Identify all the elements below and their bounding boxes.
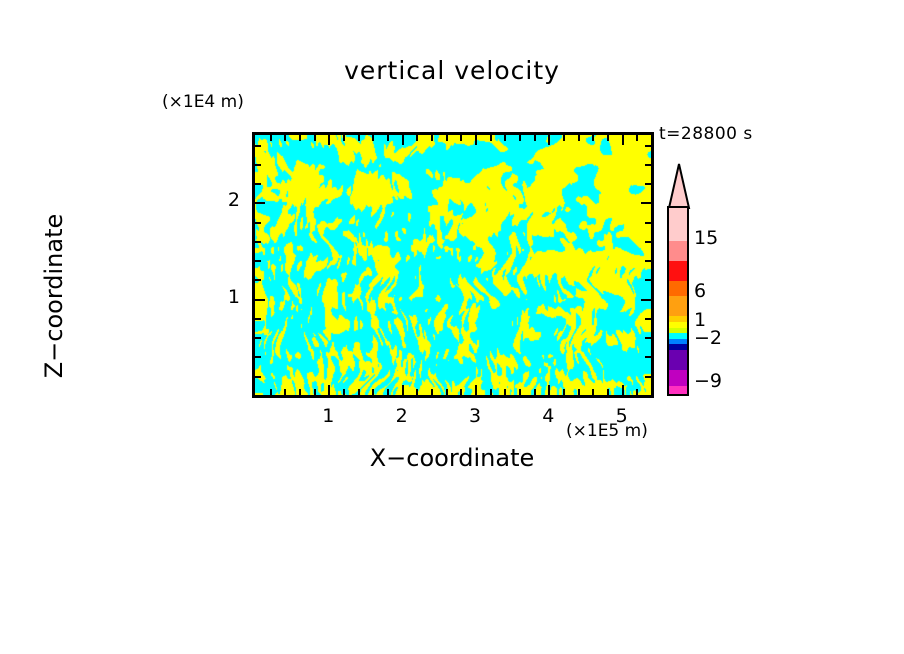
y-tick-minor bbox=[255, 318, 261, 320]
x-tick-minor-top bbox=[592, 135, 594, 141]
x-tick-minor-top bbox=[270, 135, 272, 141]
y-axis-title: Z−coordinate bbox=[40, 146, 68, 446]
x-tick-minor-top bbox=[328, 135, 330, 145]
x-tick-label: 3 bbox=[455, 405, 495, 427]
y-tick-minor bbox=[255, 376, 261, 378]
y-tick-minor-right bbox=[645, 279, 651, 281]
x-tick-minor bbox=[490, 389, 492, 395]
y-tick-minor bbox=[255, 279, 261, 281]
colorbar-tick-label: 6 bbox=[694, 280, 706, 302]
x-tick-minor bbox=[284, 389, 286, 395]
x-tick-minor-top bbox=[446, 135, 448, 141]
x-tick-minor-top bbox=[636, 135, 638, 141]
colorbar-band-pale-pink bbox=[669, 208, 687, 241]
vertical-velocity-field bbox=[255, 135, 651, 395]
x-tick-minor bbox=[636, 389, 638, 395]
y-tick-minor-right bbox=[645, 337, 651, 339]
y-tick-minor bbox=[255, 356, 261, 358]
x-tick-minor-top bbox=[299, 135, 301, 141]
colorbar-tick-label: −2 bbox=[694, 327, 722, 349]
x-tick-minor bbox=[578, 389, 580, 395]
y-tick-minor bbox=[255, 337, 261, 339]
y-tick-minor bbox=[255, 222, 261, 224]
x-tick-minor bbox=[343, 389, 345, 395]
y-tick-label: 2 bbox=[200, 189, 240, 211]
y-tick-minor bbox=[255, 183, 261, 185]
colorbar-tick-label: 15 bbox=[694, 227, 718, 249]
x-tick-minor-top bbox=[314, 135, 316, 141]
y-tick-minor-right bbox=[645, 183, 651, 185]
y-tick-minor-right bbox=[645, 376, 651, 378]
x-tick-minor-top bbox=[490, 135, 492, 141]
x-axis-title: X−coordinate bbox=[0, 444, 904, 472]
colorbar-band-orange bbox=[669, 296, 687, 316]
x-tick-minor-top bbox=[607, 135, 609, 141]
x-tick-minor bbox=[446, 389, 448, 395]
y-tick-minor bbox=[255, 299, 265, 301]
colorbar-band-red bbox=[669, 261, 687, 281]
x-tick-minor-top bbox=[519, 135, 521, 141]
x-tick-minor bbox=[607, 389, 609, 395]
colorbar-arrow-icon bbox=[664, 163, 694, 209]
y-tick-minor bbox=[255, 202, 265, 204]
x-tick-minor bbox=[534, 389, 536, 395]
colorbar-tick-label: −9 bbox=[694, 370, 722, 392]
colorbar-bands bbox=[667, 206, 689, 396]
x-tick-minor bbox=[328, 385, 330, 395]
x-tick-minor bbox=[563, 389, 565, 395]
y-tick-minor bbox=[255, 241, 261, 243]
colorbar bbox=[664, 163, 694, 395]
x-tick-minor-top bbox=[504, 135, 506, 141]
y-axis-units-label: (×1E4 m) bbox=[162, 92, 244, 112]
x-tick-minor-top bbox=[402, 135, 404, 145]
plot-title-text: vertical velocity bbox=[344, 56, 560, 85]
y-tick-minor bbox=[255, 260, 261, 262]
x-tick-minor-top bbox=[343, 135, 345, 141]
x-tick-minor bbox=[622, 385, 624, 395]
x-tick-minor bbox=[592, 389, 594, 395]
x-tick-minor-top bbox=[563, 135, 565, 141]
x-tick-minor bbox=[270, 389, 272, 395]
y-tick-minor-right bbox=[645, 356, 651, 358]
colorbar-band-purple bbox=[669, 350, 687, 370]
x-tick-minor bbox=[372, 389, 374, 395]
x-tick-minor bbox=[475, 385, 477, 395]
x-tick-minor bbox=[504, 389, 506, 395]
x-tick-minor bbox=[416, 389, 418, 395]
y-tick-minor bbox=[255, 164, 261, 166]
x-tick-minor-top bbox=[475, 135, 477, 145]
x-tick-minor bbox=[402, 385, 404, 395]
x-tick-minor bbox=[460, 389, 462, 395]
x-tick-minor-top bbox=[622, 135, 624, 145]
y-tick-minor-right bbox=[641, 299, 651, 301]
x-tick-label: 4 bbox=[528, 405, 568, 427]
colorbar-band-magenta bbox=[669, 370, 687, 386]
time-annotation: t=28800 s bbox=[659, 124, 753, 144]
x-tick-minor bbox=[548, 385, 550, 395]
x-tick-minor-top bbox=[460, 135, 462, 141]
x-tick-minor bbox=[314, 389, 316, 395]
x-tick-minor-top bbox=[548, 135, 550, 145]
y-tick-minor-right bbox=[645, 241, 651, 243]
plot-area bbox=[252, 132, 654, 398]
y-tick-minor bbox=[255, 145, 261, 147]
x-tick-label: 1 bbox=[308, 405, 348, 427]
x-tick-minor-top bbox=[431, 135, 433, 141]
y-tick-minor-right bbox=[645, 222, 651, 224]
x-tick-minor bbox=[387, 389, 389, 395]
y-tick-minor-right bbox=[645, 145, 651, 147]
x-tick-minor-top bbox=[534, 135, 536, 141]
colorbar-band-dark-orange bbox=[669, 281, 687, 296]
y-tick-minor-right bbox=[645, 164, 651, 166]
x-tick-minor bbox=[519, 389, 521, 395]
colorbar-band-salmon bbox=[669, 241, 687, 261]
x-tick-minor bbox=[431, 389, 433, 395]
x-tick-label: 2 bbox=[382, 405, 422, 427]
colorbar-band-pink-magenta bbox=[669, 386, 687, 394]
x-tick-minor-top bbox=[416, 135, 418, 141]
x-tick-minor bbox=[358, 389, 360, 395]
x-tick-label: 5 bbox=[602, 405, 642, 427]
x-tick-minor-top bbox=[358, 135, 360, 141]
x-tick-minor-top bbox=[387, 135, 389, 141]
x-tick-minor bbox=[299, 389, 301, 395]
x-tick-minor-top bbox=[578, 135, 580, 141]
y-tick-minor-right bbox=[645, 318, 651, 320]
y-tick-minor-right bbox=[641, 202, 651, 204]
y-tick-minor-right bbox=[645, 260, 651, 262]
page-title: vertical velocity bbox=[0, 56, 904, 85]
x-tick-minor-top bbox=[372, 135, 374, 141]
y-tick-label: 1 bbox=[200, 286, 240, 308]
x-tick-minor-top bbox=[284, 135, 286, 141]
